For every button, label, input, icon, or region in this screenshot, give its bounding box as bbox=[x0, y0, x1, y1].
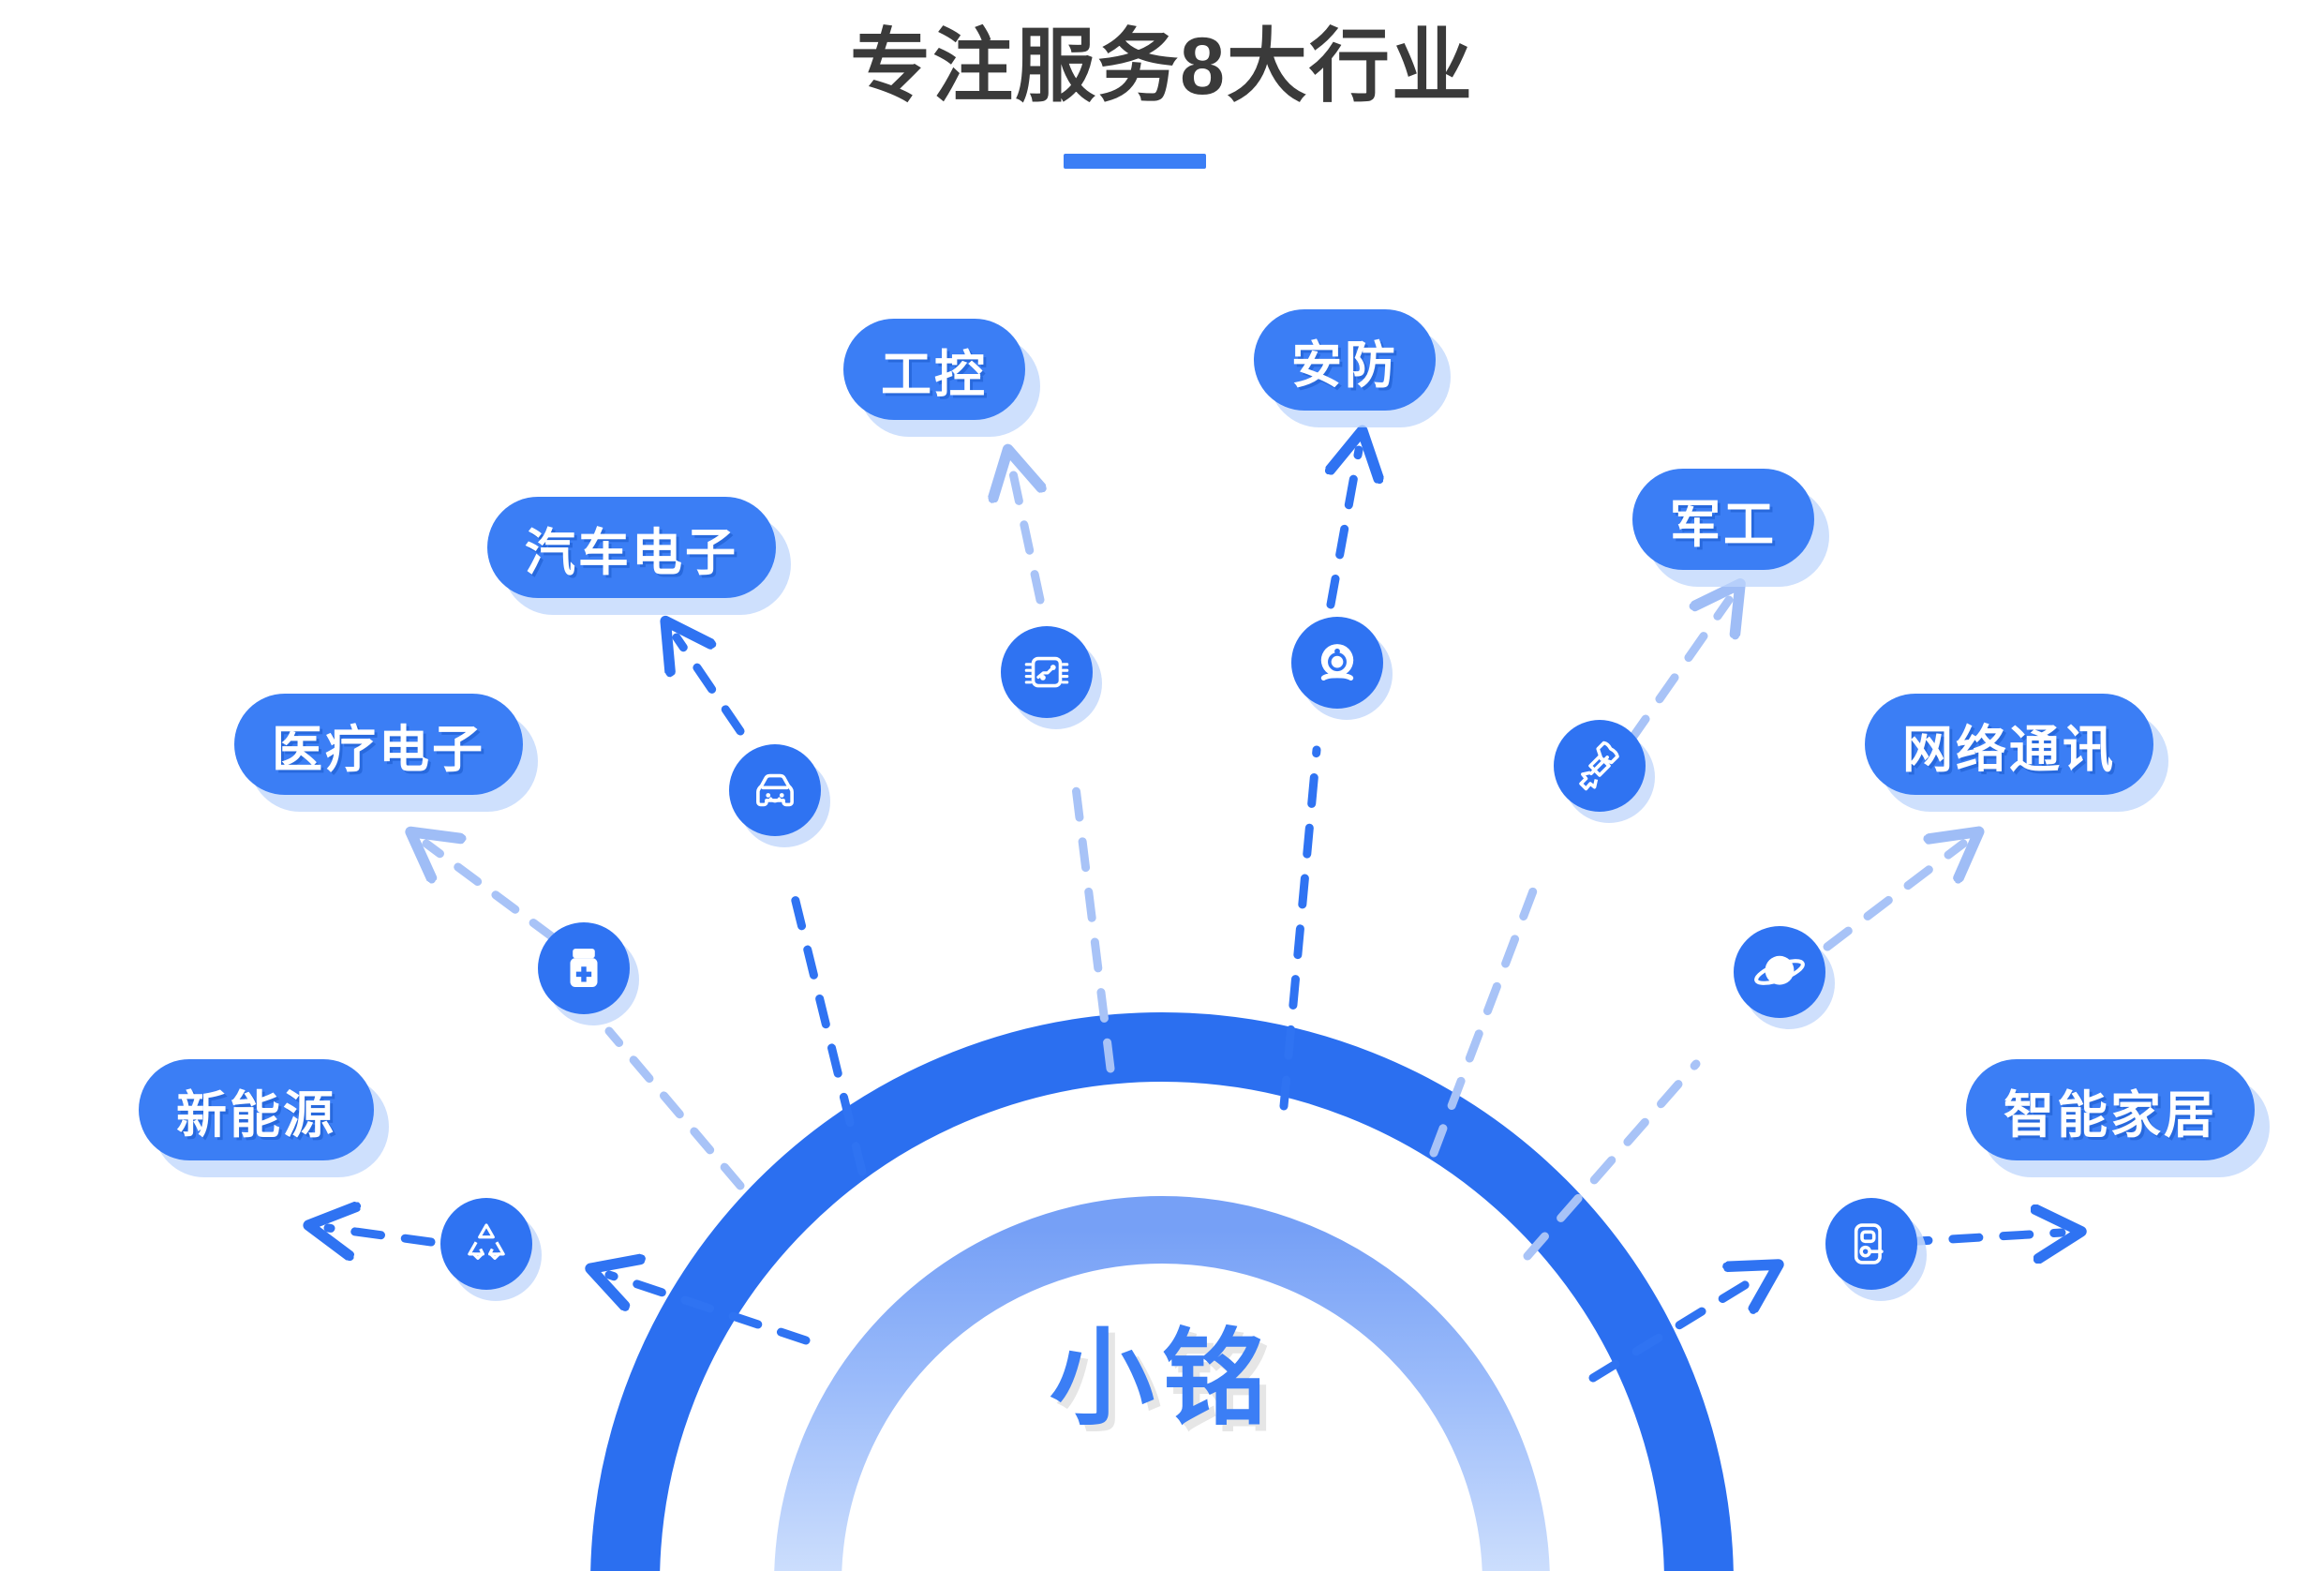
car-icon[interactable] bbox=[729, 744, 821, 836]
industry-pill-auto-electronics[interactable]: 汽车电子 bbox=[487, 497, 776, 598]
industry-pill-network-comm[interactable]: 网络通讯 bbox=[1865, 694, 2153, 795]
industry-label: 新能源 bbox=[176, 1073, 336, 1147]
industry-label: 医疗电子 bbox=[272, 708, 485, 782]
industry-pill-medical-electronics[interactable]: 医疗电子 bbox=[234, 694, 523, 795]
center-brand-label: 小铭 bbox=[956, 1294, 1368, 1445]
industry-pill-military[interactable]: 军工 bbox=[1632, 469, 1814, 570]
industry-label: 安防 bbox=[1291, 323, 1398, 397]
smart-lock-icon[interactable] bbox=[1825, 1198, 1917, 1290]
connector-medical bbox=[426, 844, 740, 1186]
industry-pill-security[interactable]: 安防 bbox=[1254, 309, 1436, 411]
camera-icon[interactable] bbox=[1291, 617, 1383, 709]
medicine-bottle-icon[interactable] bbox=[538, 922, 630, 1014]
industry-label: 工控 bbox=[881, 333, 988, 407]
connector-auto bbox=[677, 637, 862, 1172]
recycle-icon[interactable] bbox=[440, 1198, 532, 1290]
industry-pill-new-energy[interactable]: 新能源 bbox=[139, 1059, 374, 1160]
connector-military bbox=[1434, 600, 1729, 1153]
industry-label: 军工 bbox=[1670, 483, 1777, 557]
infographic-canvas: 专注服务8大行业 bbox=[0, 0, 2324, 1571]
industry-label: 智能家居 bbox=[2004, 1073, 2217, 1147]
industry-label: 网络通讯 bbox=[1902, 708, 2116, 782]
connector-industrial bbox=[1012, 469, 1110, 1069]
chip-icon[interactable] bbox=[1001, 626, 1093, 718]
connector-network bbox=[1527, 844, 1963, 1256]
industry-pill-industrial-control[interactable]: 工控 bbox=[843, 319, 1025, 420]
missile-icon[interactable] bbox=[1554, 720, 1646, 812]
connector-security bbox=[1284, 450, 1359, 1106]
planet-icon[interactable] bbox=[1734, 926, 1825, 1018]
industry-label: 汽车电子 bbox=[525, 511, 738, 585]
industry-pill-smart-home[interactable]: 智能家居 bbox=[1966, 1059, 2255, 1160]
